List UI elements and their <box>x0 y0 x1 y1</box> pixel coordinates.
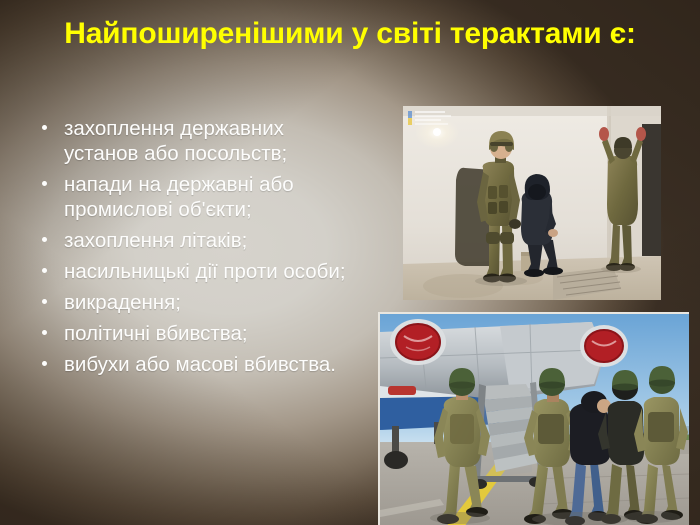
list-item-label: захоплення державних установ або посольс… <box>64 117 287 165</box>
photo-airport <box>378 312 689 525</box>
list-item-label: напади на державні або промислові об'єкт… <box>64 173 294 221</box>
photo-raid-graphic <box>403 106 661 300</box>
bullet-list: захоплення державних установ або посольс… <box>34 116 364 383</box>
bullet-dot-icon <box>42 299 47 304</box>
list-item: захоплення літаків; <box>34 228 364 253</box>
bullet-dot-icon <box>42 237 47 242</box>
list-item: насильницькі дії проти особи; <box>34 259 364 284</box>
bullet-dot-icon <box>42 125 47 130</box>
list-item: викрадення; <box>34 290 364 315</box>
list-item: політичні вбивства; <box>34 321 364 346</box>
bullet-dot-icon <box>42 361 47 366</box>
page-title: Найпоширенішими у світі терактами є: <box>60 14 640 54</box>
list-item-label: викрадення; <box>64 291 181 314</box>
photo-raid <box>403 106 661 300</box>
list-item-label: політичні вбивства; <box>64 322 248 345</box>
list-item-label: захоплення літаків; <box>64 229 247 252</box>
list-item-label: насильницькі дії проти особи; <box>64 260 346 283</box>
photo-airport-graphic <box>380 314 689 525</box>
watermark-logo <box>407 109 459 130</box>
list-item: захоплення державних установ або посольс… <box>34 116 364 166</box>
list-item: вибухи або масові вбивства. <box>34 352 364 377</box>
bullet-dot-icon <box>42 330 47 335</box>
list-item: напади на державні або промислові об'єкт… <box>34 172 364 222</box>
bullet-dot-icon <box>42 181 47 186</box>
slide-canvas: Найпоширенішими у світі терактами є: зах… <box>0 0 700 525</box>
watermark-graphic <box>407 109 459 130</box>
bullet-dot-icon <box>42 268 47 273</box>
list-item-label: вибухи або масові вбивства. <box>64 353 336 376</box>
